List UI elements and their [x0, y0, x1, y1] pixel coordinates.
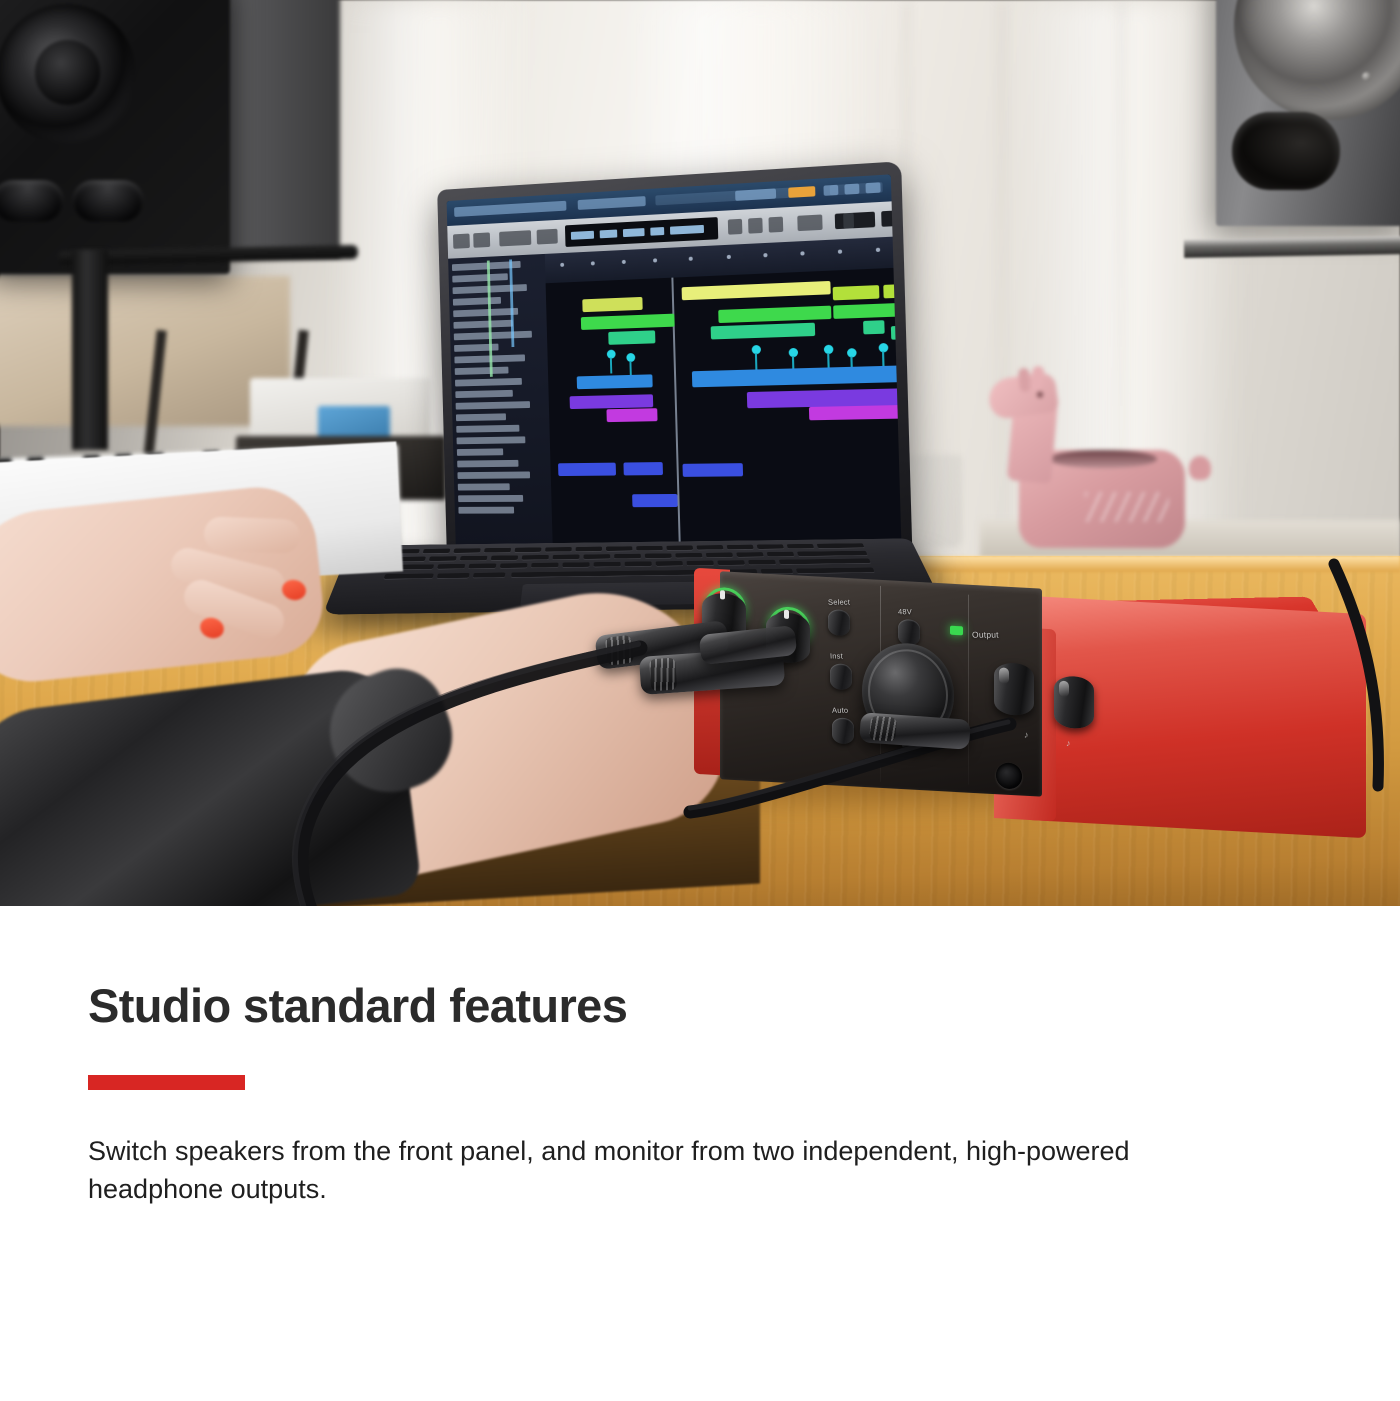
product-feature-page: Select Inst Auto 48V Air Saf: [0, 0, 1400, 1401]
button-label-48v: 48V: [898, 607, 912, 616]
finger: [203, 516, 300, 553]
phantom-power-48v-button[interactable]: [898, 619, 920, 646]
speaker-woofer: [0, 4, 136, 144]
laptop-lid: [437, 161, 913, 563]
speaker-bass-port: [72, 180, 144, 222]
daw-track-list: [448, 254, 553, 550]
speaker-stand-pole: [72, 250, 108, 450]
connector-grip: [869, 716, 897, 742]
hero-photo: Select Inst Auto 48V Air Saf: [0, 0, 1400, 906]
xlr-cable: [240, 630, 660, 906]
headphone-knob-1[interactable]: [994, 662, 1034, 716]
select-button[interactable]: [828, 609, 850, 636]
knob-indicator: [784, 610, 789, 619]
daw-arrangement-area: [448, 237, 901, 551]
output-label: Output: [972, 630, 999, 640]
speaker-screw: [1362, 72, 1371, 81]
button-label-select: Select: [828, 598, 850, 607]
studio-monitor-left: [0, 0, 230, 274]
llama-eye: [1037, 391, 1044, 398]
rear-cable: [1330, 560, 1400, 790]
llama-tail: [1189, 456, 1211, 480]
llama-ear: [1018, 367, 1031, 392]
knob-highlight: [1059, 681, 1069, 698]
llama-pattern: [1085, 492, 1169, 522]
speaker-bass-port: [0, 180, 64, 222]
speaker-woofer: [1234, 0, 1400, 120]
llama-planter-opening: [1049, 450, 1157, 468]
speaker-bass-port: [1232, 112, 1340, 190]
headphone-knob-2[interactable]: [1054, 675, 1094, 729]
inst-button[interactable]: [830, 663, 852, 690]
text-content-section: Studio standard features Switch speakers…: [0, 906, 1400, 1401]
studio-scene: Select Inst Auto 48V Air Saf: [0, 0, 1400, 906]
button-label-inst: Inst: [830, 651, 843, 660]
body-paragraph: Switch speakers from the front panel, an…: [88, 1132, 1268, 1209]
page-title: Studio standard features: [88, 981, 627, 1031]
knob-highlight: [999, 667, 1009, 684]
laptop-screen: [447, 174, 902, 551]
button-label-auto: Auto: [832, 706, 849, 715]
studio-monitor-right: [1216, 0, 1400, 226]
speaker-shelf: [1184, 236, 1400, 258]
llama-planter: [975, 372, 1205, 550]
accent-bar: [88, 1075, 245, 1090]
background-cabinet: [0, 276, 290, 426]
knob-indicator: [720, 590, 725, 599]
output-led: [950, 626, 963, 636]
daw-transport-display: [565, 217, 718, 247]
headphone-icon: ♪: [1066, 738, 1071, 748]
